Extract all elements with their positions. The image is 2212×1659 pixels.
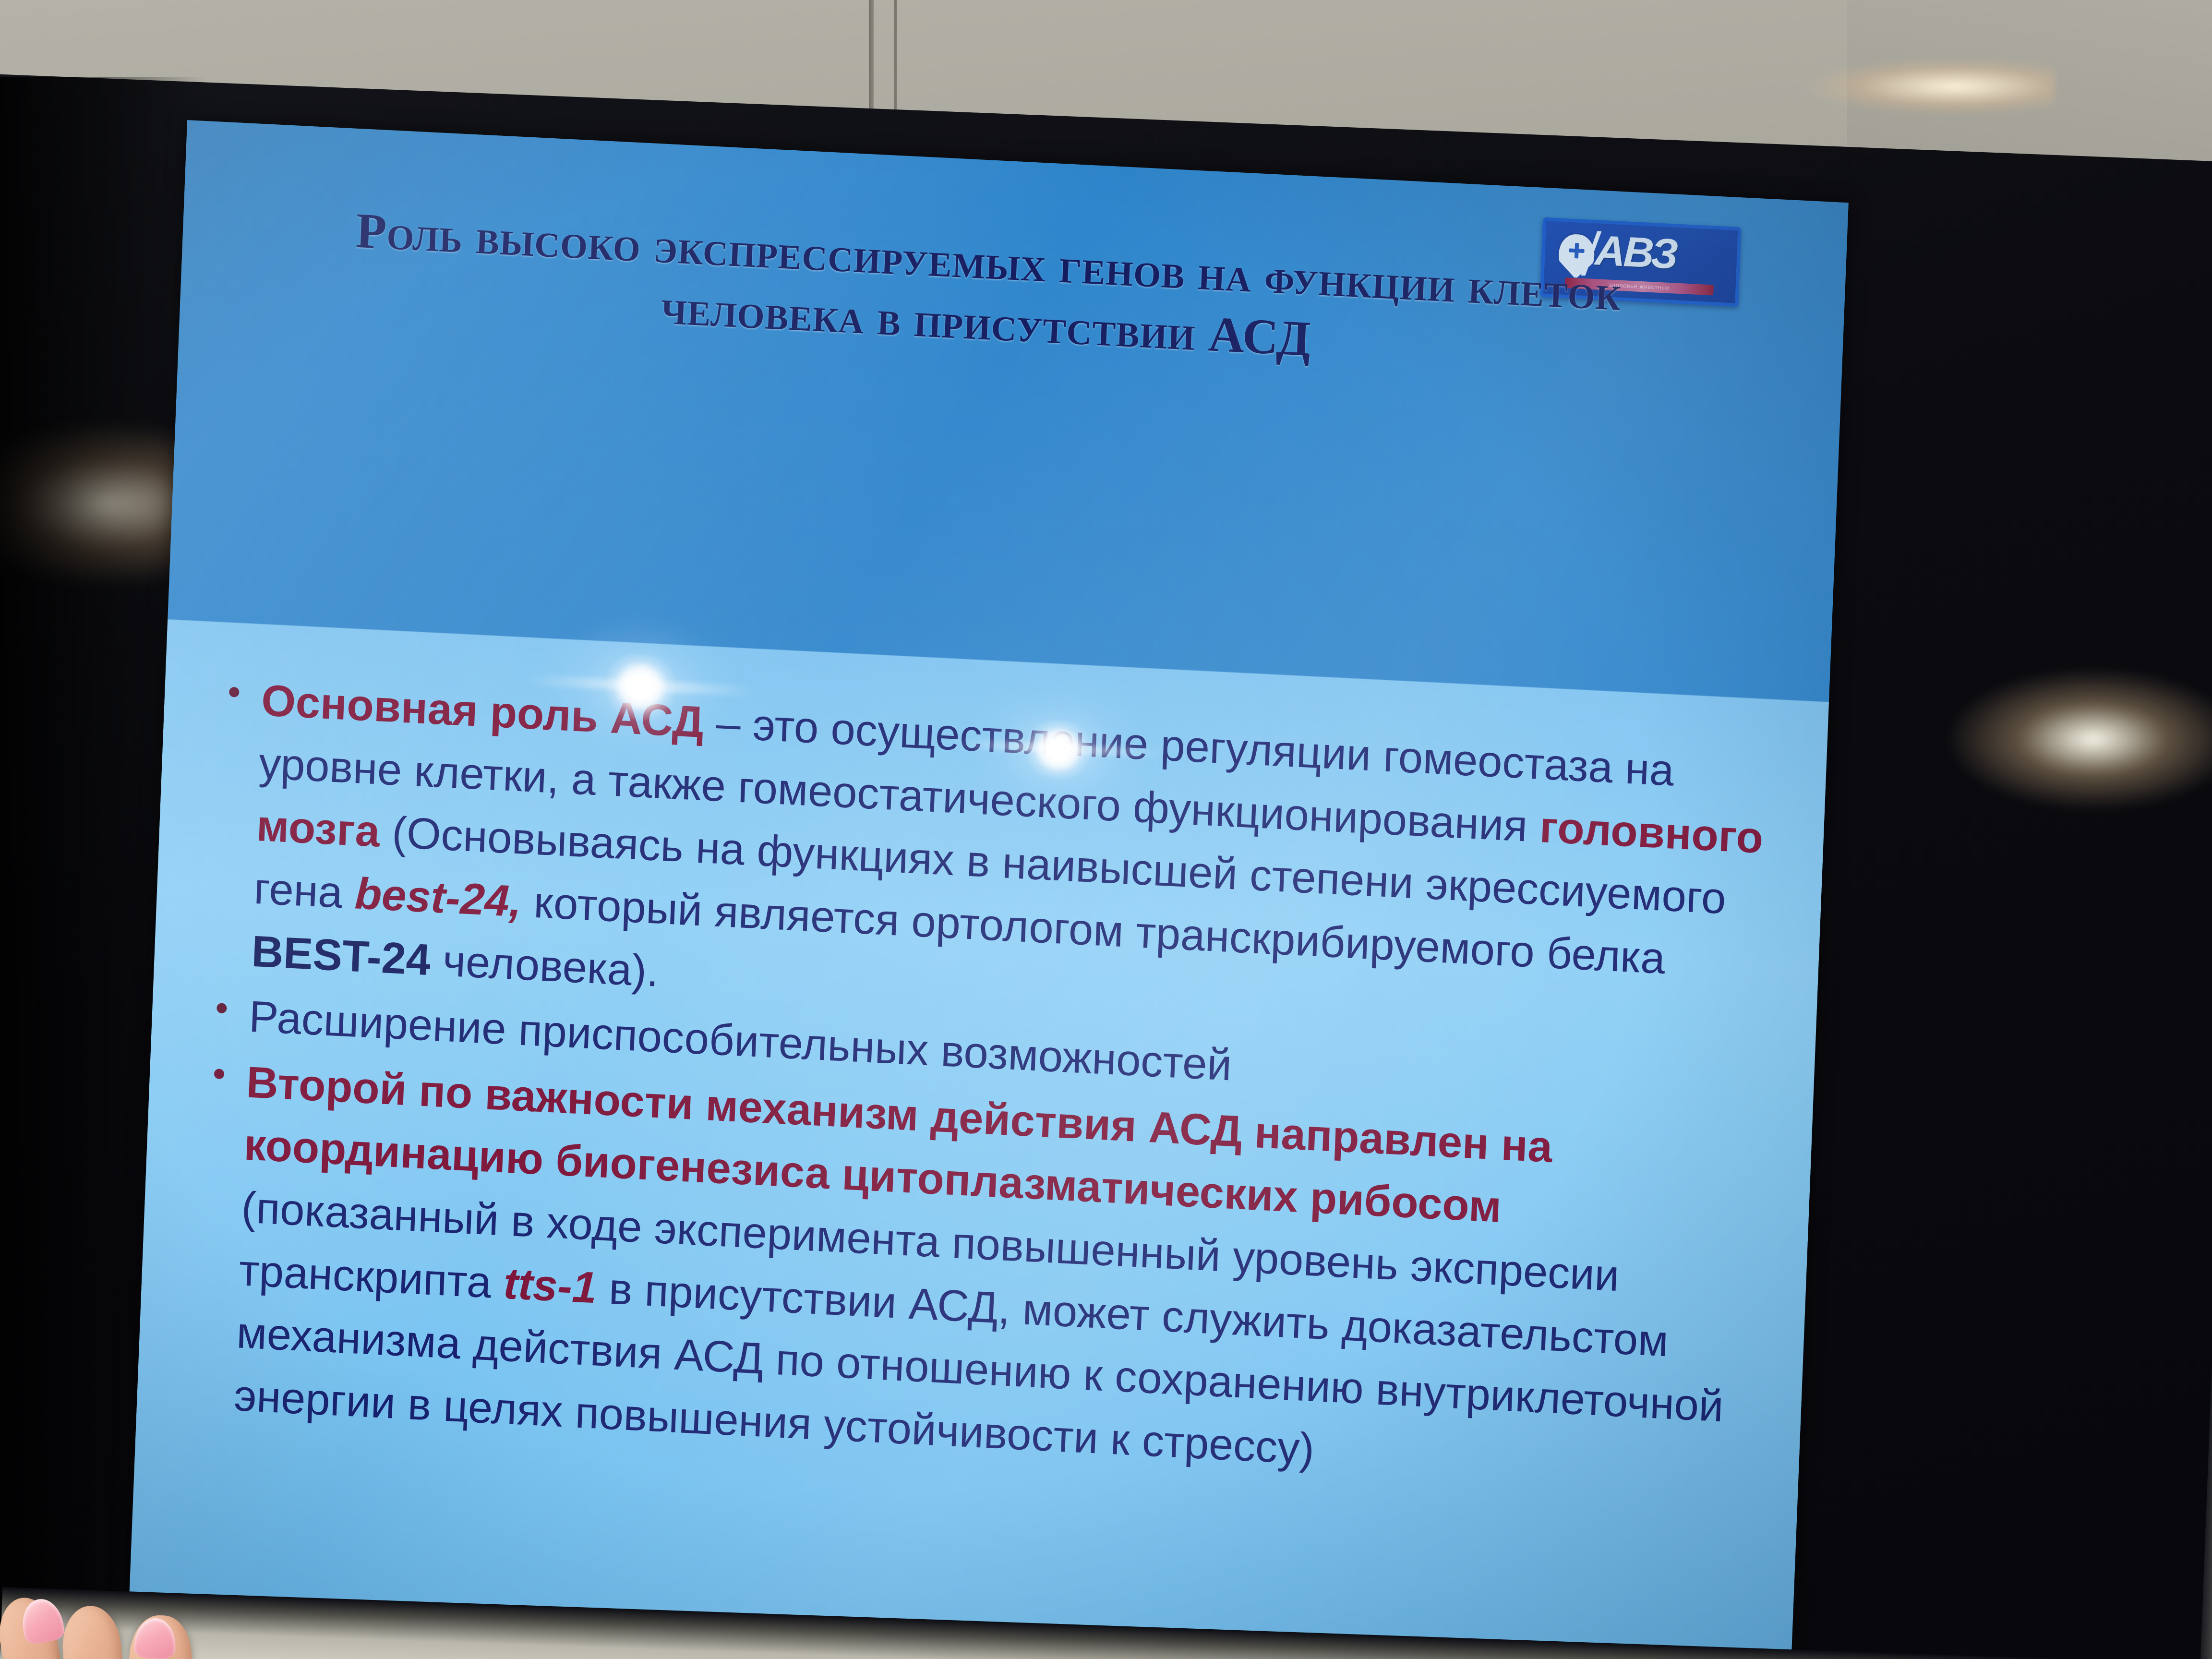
bullet-dot-icon [214, 1069, 225, 1079]
bezel-glint-right [1944, 667, 2212, 811]
text-run: best-24, [354, 869, 522, 926]
text-run: человека). [430, 936, 660, 996]
presenter-hand [0, 1534, 413, 1659]
bullet-text: Второй по важности механизм действия АСД… [233, 1058, 1725, 1474]
slide-body: Основная роль АСД – это осуществление ре… [189, 667, 1786, 1506]
list-item: Второй по важности механизм действия АСД… [189, 1049, 1771, 1503]
bezel-glint-top-right [1805, 58, 2055, 115]
presentation-slide: АВЗ здоровье животных Роль высоко экспре… [129, 120, 1849, 1659]
text-run: tts-1 [503, 1259, 598, 1312]
finger [60, 1604, 127, 1659]
text-run: BEST-24 [251, 926, 432, 984]
tv-right-frame [2193, 163, 2212, 1659]
screenshot-root: АВЗ здоровье животных Роль высоко экспре… [0, 0, 2212, 1659]
bullet-dot-icon [216, 1003, 227, 1013]
bullet-dot-icon [229, 687, 240, 697]
